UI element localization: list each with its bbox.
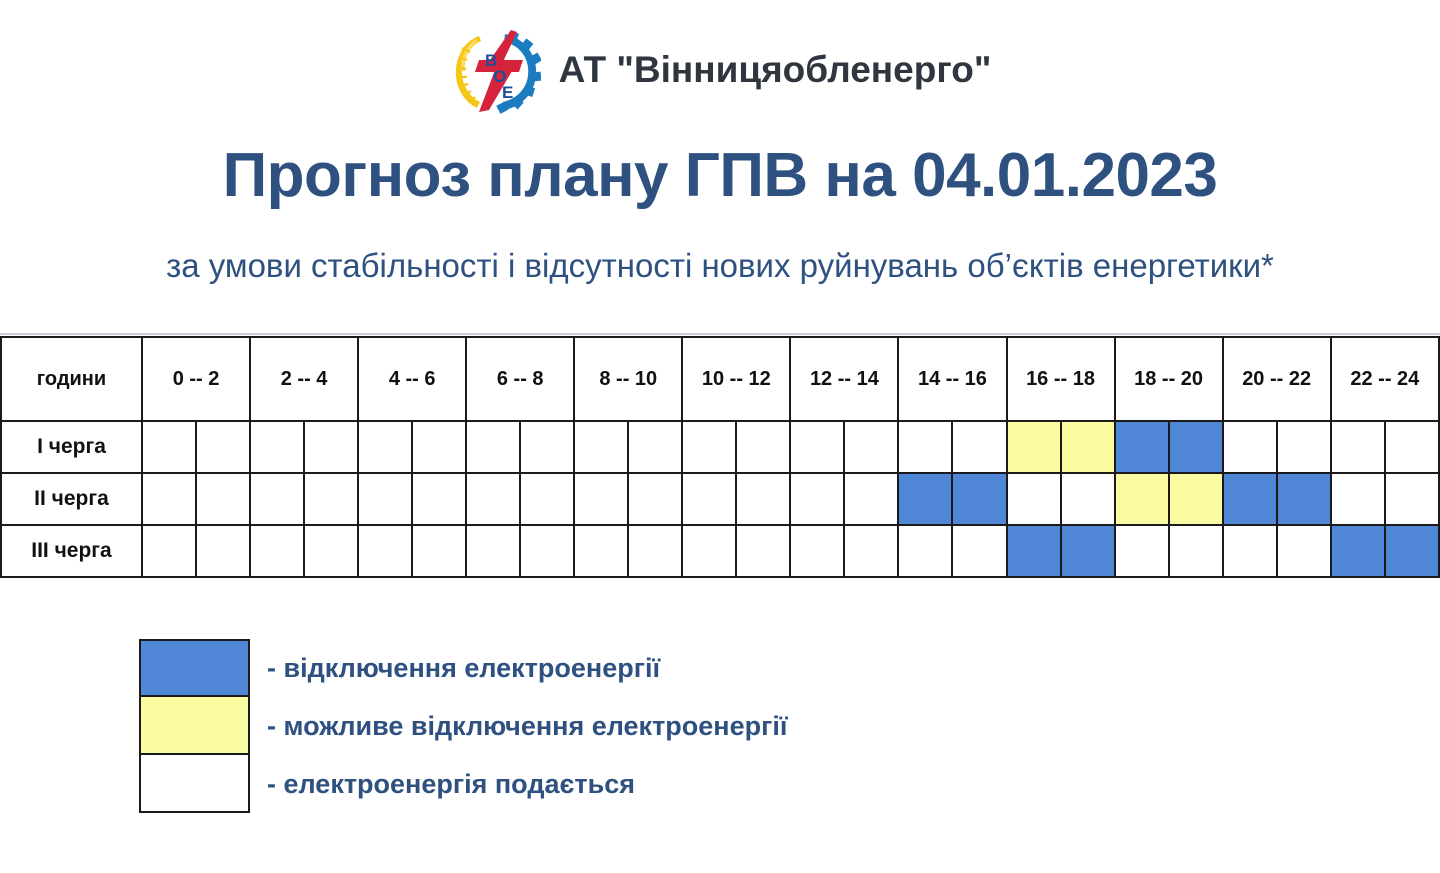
hour-column-header: 0 -- 2 — [142, 337, 250, 421]
legend-label: - можливе відключення електроенергії — [267, 713, 787, 740]
schedule-cell-off — [1007, 525, 1061, 577]
schedule-cell-on — [1277, 421, 1331, 473]
legend-swatch-off — [139, 639, 250, 697]
legend-swatch-on — [139, 755, 250, 813]
legend-row: - можливе відключення електроенергії — [139, 697, 787, 755]
schedule-cell-on — [1385, 421, 1439, 473]
legend-swatch-maybe — [139, 697, 250, 755]
schedule-cell-on — [952, 421, 1006, 473]
schedule-cell-off — [898, 473, 952, 525]
table-head: години 0 -- 22 -- 44 -- 66 -- 88 -- 1010… — [1, 337, 1439, 421]
schedule-cell-on — [736, 525, 790, 577]
schedule-cell-on — [790, 421, 844, 473]
legend-row: - відключення електроенергії — [139, 639, 787, 697]
schedule-cell-on — [898, 525, 952, 577]
table-body: I чергаII чергаIII черга — [1, 421, 1439, 577]
hour-column-header: 18 -- 20 — [1115, 337, 1223, 421]
schedule-cell-off — [1331, 525, 1385, 577]
schedule-cell-on — [1061, 473, 1115, 525]
schedule-cell-on — [682, 525, 736, 577]
schedule-cell-on — [844, 473, 898, 525]
schedule-cell-on — [142, 473, 196, 525]
table-row: III черга — [1, 525, 1439, 577]
schedule-cell-on — [1385, 473, 1439, 525]
outage-schedule-table: години 0 -- 22 -- 44 -- 66 -- 88 -- 1010… — [0, 336, 1440, 578]
legend: - відключення електроенергії- можливе ві… — [139, 639, 787, 813]
schedule-cell-off — [1223, 473, 1277, 525]
schedule-cell-on — [520, 473, 574, 525]
schedule-cell-maybe — [1007, 421, 1061, 473]
schedule-cell-on — [952, 525, 1006, 577]
schedule-cell-on — [142, 421, 196, 473]
schedule-cell-on — [304, 525, 358, 577]
schedule-cell-on — [466, 473, 520, 525]
schedule-cell-on — [304, 421, 358, 473]
schedule-cell-on — [1331, 421, 1385, 473]
schedule-cell-on — [520, 421, 574, 473]
hours-corner-label: години — [1, 337, 142, 421]
brand-header: В О Е АТ "Вінницяобленерго" — [0, 22, 1440, 117]
schedule-cell-on — [574, 525, 628, 577]
schedule-cell-on — [736, 421, 790, 473]
table-top-rule — [0, 333, 1440, 335]
schedule-cell-on — [196, 525, 250, 577]
schedule-cell-on — [898, 421, 952, 473]
schedule-cell-maybe — [1169, 473, 1223, 525]
schedule-cell-on — [250, 421, 304, 473]
legend-label: - відключення електроенергії — [267, 655, 660, 682]
schedule-cell-on — [304, 473, 358, 525]
schedule-cell-off — [1115, 421, 1169, 473]
hour-column-header: 12 -- 14 — [790, 337, 898, 421]
schedule-cell-on — [682, 421, 736, 473]
schedule-cell-on — [1223, 525, 1277, 577]
schedule-cell-on — [790, 473, 844, 525]
schedule-cell-on — [1223, 421, 1277, 473]
schedule-cell-on — [466, 525, 520, 577]
schedule-cell-off — [1061, 525, 1115, 577]
schedule-cell-on — [1331, 473, 1385, 525]
hour-column-header: 10 -- 12 — [682, 337, 790, 421]
queue-row-label: III черга — [1, 525, 142, 577]
schedule-cell-on — [790, 525, 844, 577]
page-title: Прогноз плану ГПВ на 04.01.2023 — [0, 143, 1440, 208]
schedule-cell-on — [412, 421, 466, 473]
schedule-cell-on — [628, 421, 682, 473]
schedule-cell-on — [1115, 525, 1169, 577]
queue-row-label: II черга — [1, 473, 142, 525]
hour-column-header: 16 -- 18 — [1007, 337, 1115, 421]
table-header-row: години 0 -- 22 -- 44 -- 66 -- 88 -- 1010… — [1, 337, 1439, 421]
schedule-cell-on — [142, 525, 196, 577]
schedule-cell-on — [736, 473, 790, 525]
schedule-cell-on — [196, 473, 250, 525]
schedule-table-zone: години 0 -- 22 -- 44 -- 66 -- 88 -- 1010… — [0, 336, 1440, 578]
schedule-cell-off — [1385, 525, 1439, 577]
schedule-cell-maybe — [1115, 473, 1169, 525]
schedule-cell-off — [1277, 473, 1331, 525]
schedule-cell-on — [358, 421, 412, 473]
hour-column-header: 20 -- 22 — [1223, 337, 1331, 421]
hour-column-header: 2 -- 4 — [250, 337, 358, 421]
company-name: АТ "Вінницяобленерго" — [559, 51, 992, 88]
schedule-cell-on — [412, 473, 466, 525]
svg-text:Е: Е — [502, 83, 513, 102]
schedule-cell-on — [358, 473, 412, 525]
queue-row-label: I черга — [1, 421, 142, 473]
voe-logo-icon: В О Е — [449, 26, 541, 114]
schedule-cell-off — [952, 473, 1006, 525]
schedule-cell-on — [412, 525, 466, 577]
legend-row: - електроенергія подається — [139, 755, 787, 813]
schedule-cell-on — [844, 525, 898, 577]
hour-column-header: 6 -- 8 — [466, 337, 574, 421]
schedule-cell-on — [1007, 473, 1061, 525]
schedule-cell-on — [628, 525, 682, 577]
schedule-cell-on — [682, 473, 736, 525]
schedule-cell-on — [844, 421, 898, 473]
schedule-cell-on — [1277, 525, 1331, 577]
schedule-cell-on — [250, 525, 304, 577]
schedule-cell-on — [250, 473, 304, 525]
schedule-cell-on — [196, 421, 250, 473]
schedule-cell-maybe — [1061, 421, 1115, 473]
page-subtitle: за умови стабільності і відсутності нови… — [0, 248, 1440, 284]
hour-column-header: 8 -- 10 — [574, 337, 682, 421]
legend-label: - електроенергія подається — [267, 771, 635, 798]
schedule-cell-off — [1169, 421, 1223, 473]
schedule-cell-on — [520, 525, 574, 577]
schedule-cell-on — [1169, 525, 1223, 577]
hour-column-header: 14 -- 16 — [898, 337, 1006, 421]
schedule-cell-on — [628, 473, 682, 525]
schedule-cell-on — [574, 473, 628, 525]
table-row: I черга — [1, 421, 1439, 473]
schedule-cell-on — [574, 421, 628, 473]
schedule-cell-on — [466, 421, 520, 473]
hour-column-header: 22 -- 24 — [1331, 337, 1439, 421]
hour-column-header: 4 -- 6 — [358, 337, 466, 421]
table-row: II черга — [1, 473, 1439, 525]
schedule-cell-on — [358, 525, 412, 577]
